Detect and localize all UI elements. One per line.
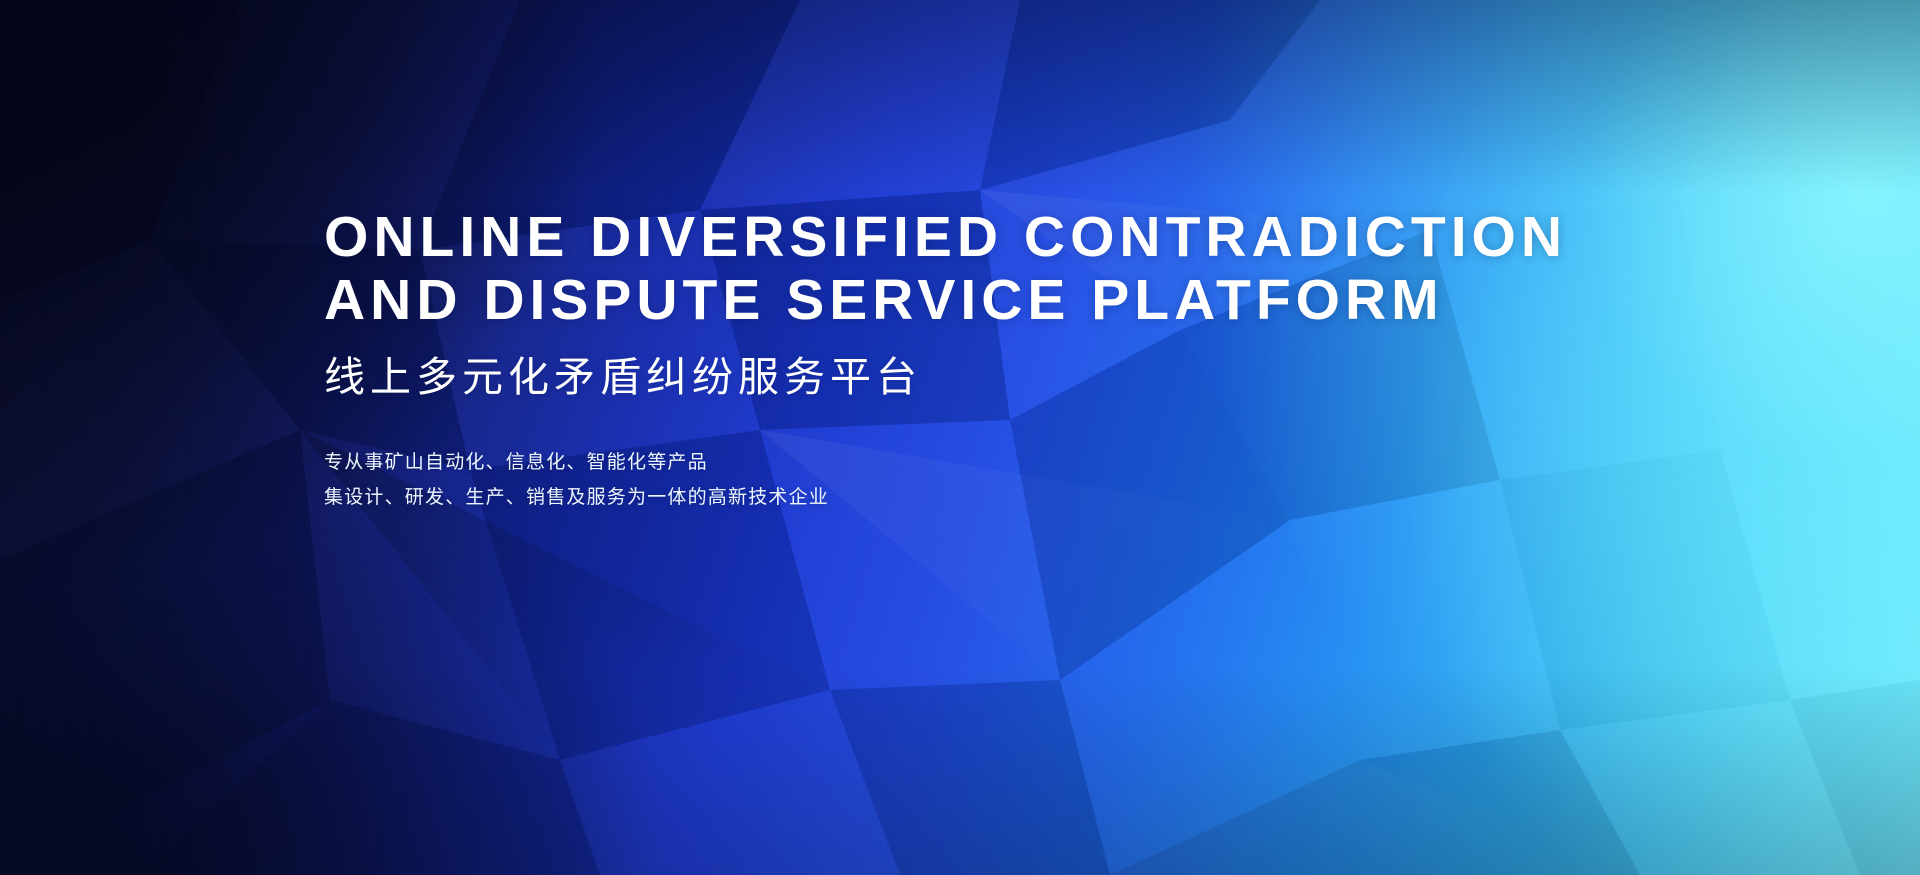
hero-banner: ONLINE DIVERSIFIED CONTRADICTION AND DIS…: [0, 0, 1920, 875]
banner-content: ONLINE DIVERSIFIED CONTRADICTION AND DIS…: [324, 206, 1744, 515]
headline-line-2: AND DISPUTE SERVICE PLATFORM: [324, 269, 1744, 332]
banner-headline-english: ONLINE DIVERSIFIED CONTRADICTION AND DIS…: [324, 206, 1744, 332]
headline-line-1: ONLINE DIVERSIFIED CONTRADICTION: [324, 206, 1744, 269]
description-line-2: 集设计、研发、生产、销售及服务为一体的高新技术企业: [324, 480, 1744, 515]
description-line-1: 专从事矿山自动化、信息化、智能化等产品: [324, 445, 1744, 480]
banner-subtitle-chinese: 线上多元化矛盾纠纷服务平台: [324, 352, 1744, 402]
banner-description: 专从事矿山自动化、信息化、智能化等产品 集设计、研发、生产、销售及服务为一体的高…: [324, 445, 1744, 515]
